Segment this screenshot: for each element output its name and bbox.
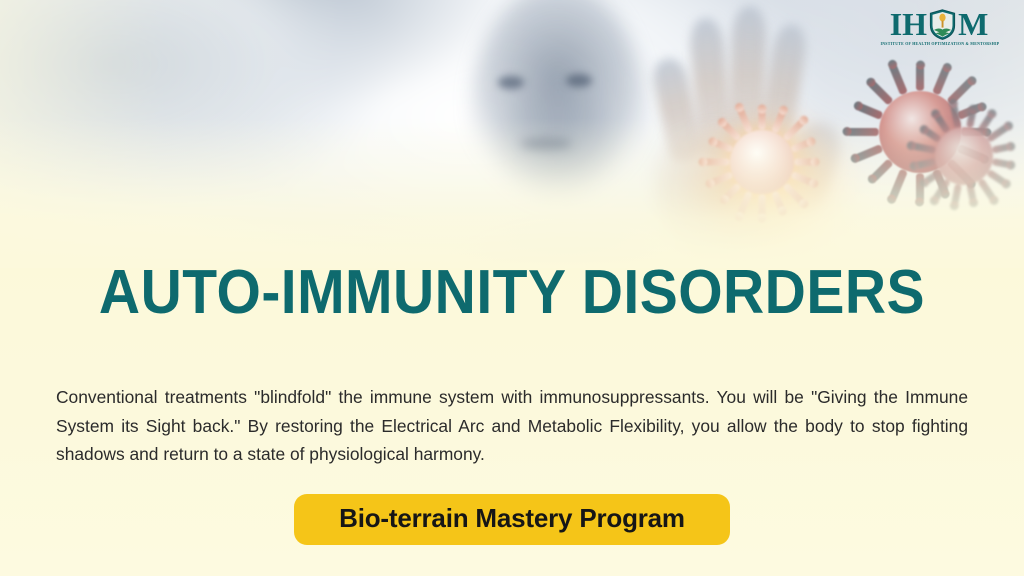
photo-bottom-fade (0, 118, 1024, 268)
ihom-logo[interactable]: IH M INSTITUTE OF HEALTH OPTIMIZATION & … (878, 8, 1000, 46)
hero-photo (0, 0, 1024, 268)
bio-terrain-mastery-program-button[interactable]: Bio-terrain Mastery Program (294, 494, 730, 545)
logo-letters-left: IH (890, 8, 927, 40)
cta-container: Bio-terrain Mastery Program (0, 494, 1024, 545)
slide-root: IH M INSTITUTE OF HEALTH OPTIMIZATION & … (0, 0, 1024, 576)
shield-torch-icon (929, 9, 956, 40)
page-title: AUTO-IMMUNITY DISORDERS (0, 262, 1024, 324)
logo-letters-right: M (958, 8, 988, 40)
logo-mark: IH M (878, 8, 1000, 40)
body-paragraph: Conventional treatments "blindfold" the … (56, 383, 968, 469)
logo-subtitle: INSTITUTE OF HEALTH OPTIMIZATION & MENTO… (880, 41, 997, 46)
page-title-text: AUTO-IMMUNITY DISORDERS (99, 262, 925, 324)
